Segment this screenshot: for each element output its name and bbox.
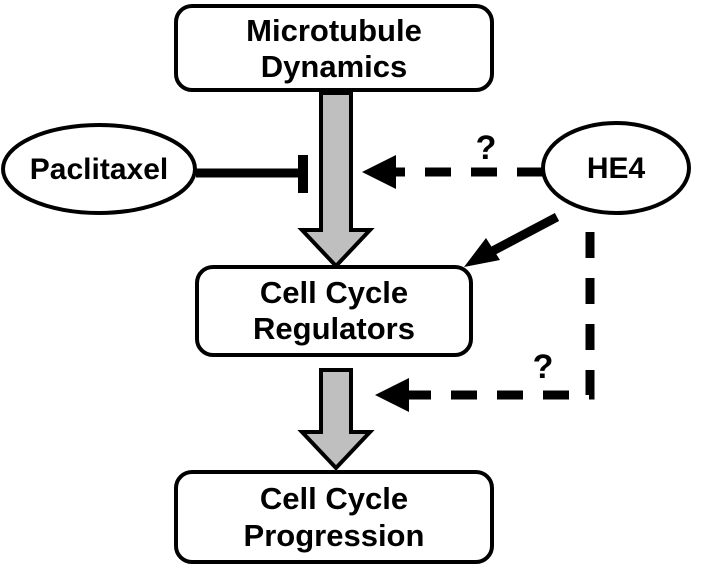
node-cell-cycle-regulators-label-line2: Regulators	[253, 311, 415, 346]
node-microtubule-dynamics[interactable]: Microtubule Dynamics	[176, 6, 492, 90]
node-cell-cycle-progression[interactable]: Cell Cycle Progression	[176, 472, 492, 562]
edge-paclitaxel-inhibits	[196, 155, 308, 193]
node-paclitaxel[interactable]: Paclitaxel	[3, 125, 195, 213]
node-cell-cycle-progression-label-line1: Cell Cycle	[260, 481, 408, 516]
question-mark-top: ?	[476, 129, 497, 167]
block-arrow-regulators-to-progression	[302, 370, 370, 468]
question-mark-bottom: ?	[533, 348, 554, 386]
node-microtubule-dynamics-label-line1: Microtubule	[246, 13, 422, 48]
node-paclitaxel-label: Paclitaxel	[30, 153, 168, 186]
arrow-head-top-dashed	[362, 155, 396, 189]
edge-he4-to-regulators-solid	[464, 217, 557, 267]
arrow-head-bottom-dashed	[375, 378, 409, 412]
node-he4[interactable]: HE4	[543, 123, 689, 213]
node-microtubule-dynamics-label-line2: Dynamics	[261, 49, 407, 84]
node-cell-cycle-regulators-label-line1: Cell Cycle	[260, 275, 408, 310]
node-cell-cycle-progression-label-line2: Progression	[244, 518, 425, 553]
arrow-head-diagonal	[464, 238, 500, 267]
block-arrow-microtubule-to-regulators	[302, 93, 370, 266]
edge-he4-to-microtubule-axis-dashed	[362, 155, 543, 189]
node-he4-label: HE4	[587, 152, 646, 185]
node-cell-cycle-regulators[interactable]: Cell Cycle Regulators	[197, 267, 471, 355]
pathway-diagram: (dashed, top) with ? ============ --> ? …	[0, 0, 702, 569]
diagram-canvas: (dashed, top) with ? ============ --> ? …	[0, 0, 702, 569]
